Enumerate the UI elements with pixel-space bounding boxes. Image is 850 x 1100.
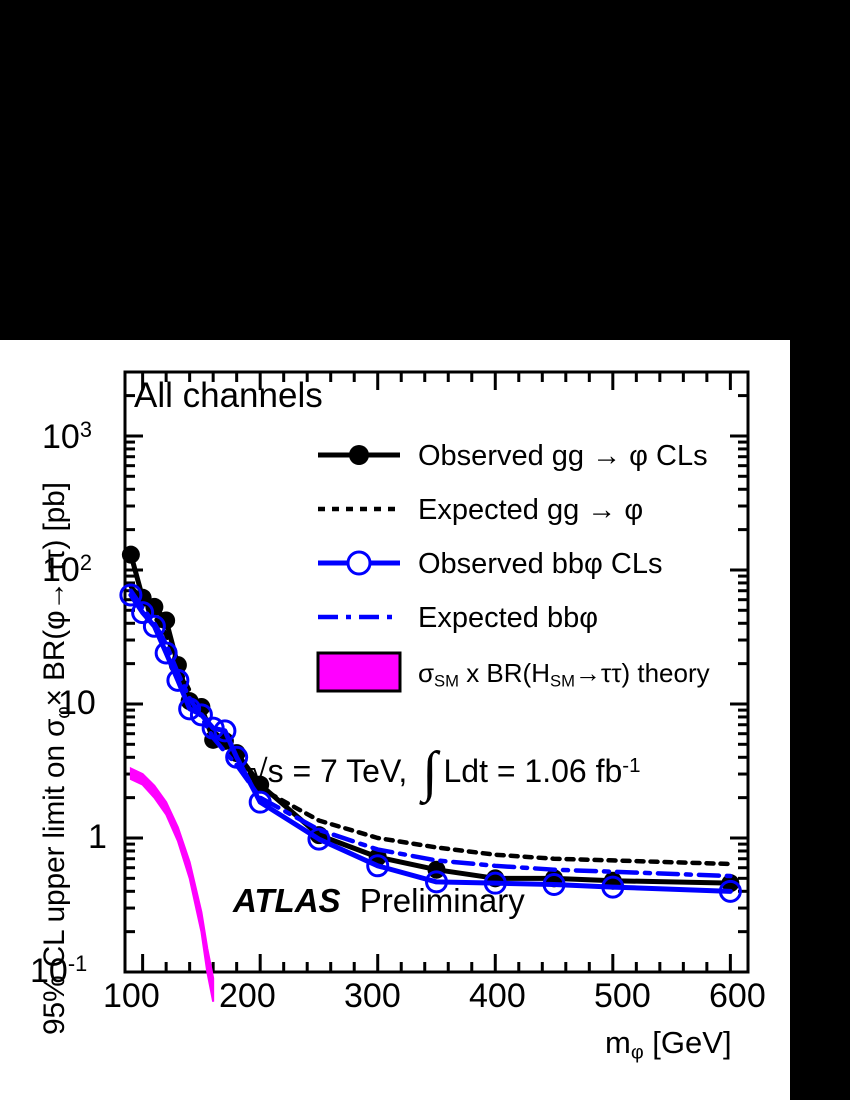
data-curves — [121, 546, 740, 902]
legend-markers — [318, 445, 400, 691]
plot-graphics — [0, 340, 790, 1100]
plot-canvas: 95% CL upper limit on σφ× BR(φ→ ττ) [pb]… — [0, 340, 790, 1100]
